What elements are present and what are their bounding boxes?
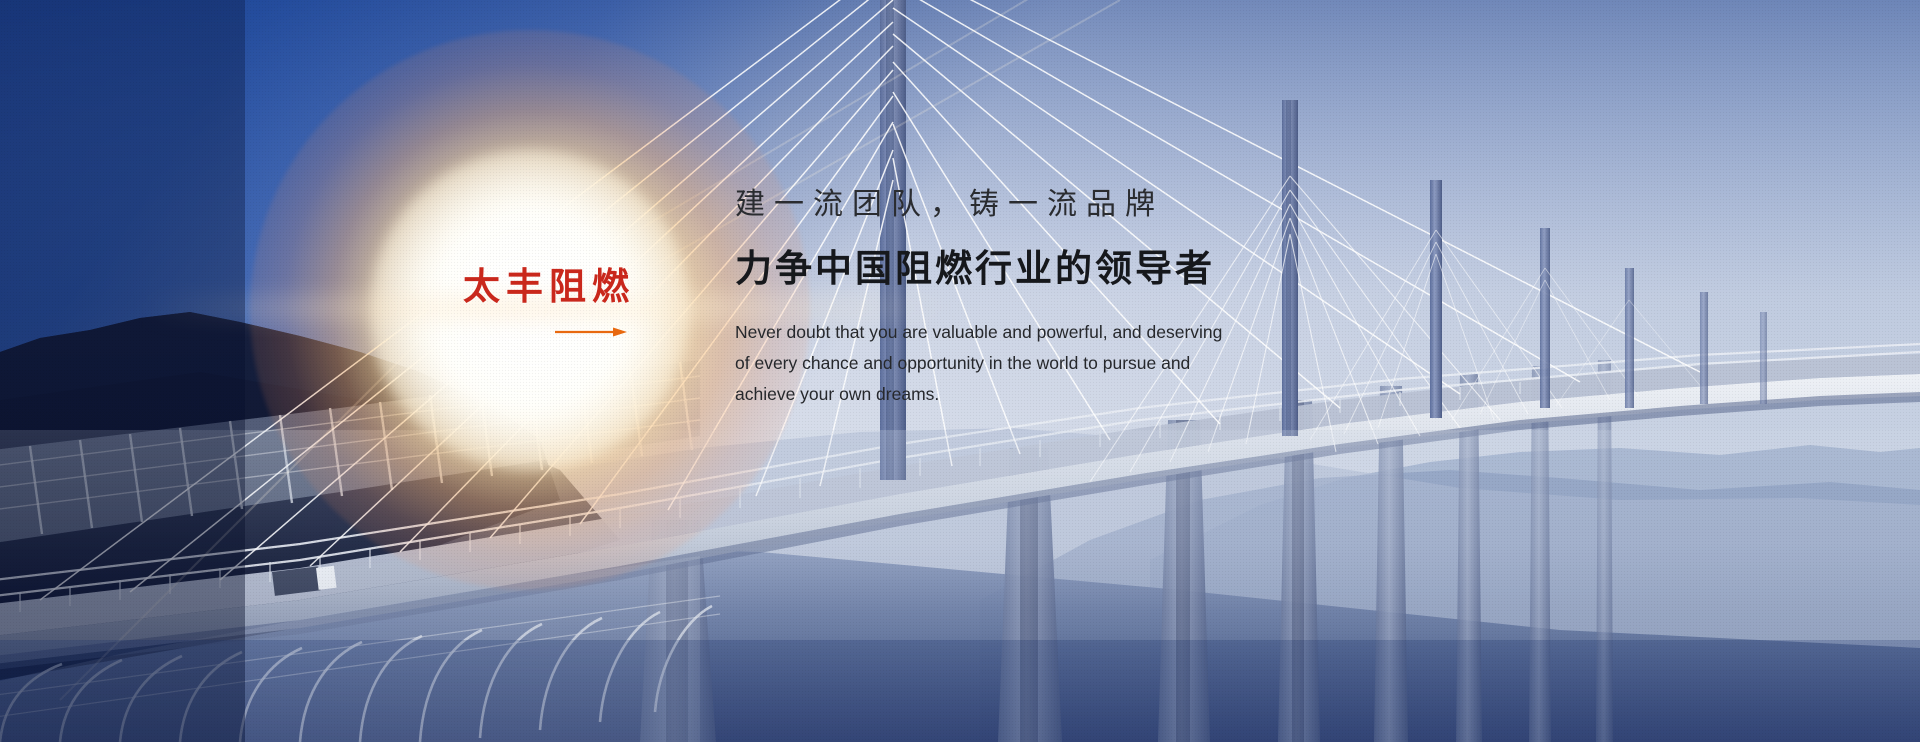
banner-content: 太丰阻燃 建一流团队，铸一流品牌 力争中国阻燃行业的领导者 Never doub… — [0, 0, 1920, 742]
hero-banner: 太丰阻燃 建一流团队，铸一流品牌 力争中国阻燃行业的领导者 Never doub… — [0, 0, 1920, 742]
headline-block: 建一流团队，铸一流品牌 力争中国阻燃行业的领导者 Never doubt tha… — [735, 185, 1495, 409]
headline-line-2: 力争中国阻燃行业的领导者 — [735, 244, 1495, 294]
headline-line-1: 建一流团队，铸一流品牌 — [735, 185, 1495, 226]
subcopy-line-3: achieve your own dreams. — [735, 379, 1305, 410]
subcopy-line-2: of every chance and opportunity in the w… — [735, 348, 1305, 379]
brand-logo-text: 太丰阻燃 — [463, 268, 683, 305]
brand-logo[interactable]: 太丰阻燃 — [463, 268, 683, 305]
arrow-right-icon — [555, 326, 629, 338]
subcopy-paragraph: Never doubt that you are valuable and po… — [735, 317, 1305, 409]
subcopy-line-1: Never doubt that you are valuable and po… — [735, 317, 1305, 348]
